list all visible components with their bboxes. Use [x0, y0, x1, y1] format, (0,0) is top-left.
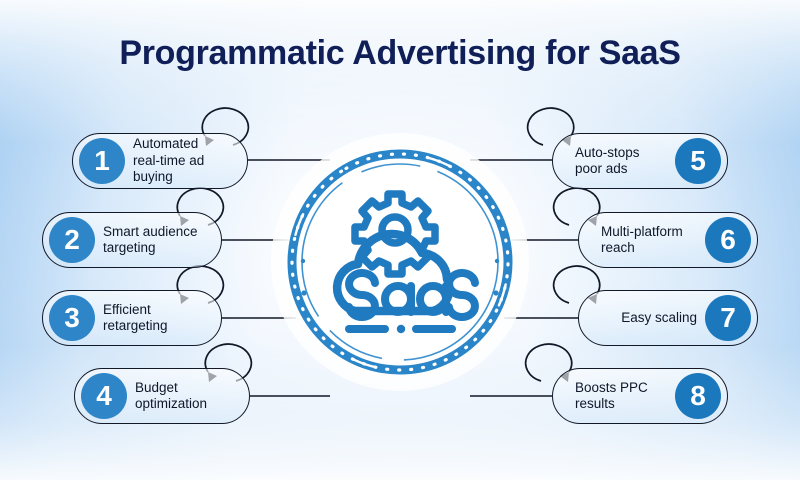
item-label: Smart audience targeting [95, 224, 207, 257]
item-label: Automated real-time ad buying [125, 136, 233, 185]
infographic-canvas: Programmatic Advertising for SaaS [0, 0, 800, 480]
saas-logo-icon [281, 143, 519, 381]
item-badge: 7 [705, 295, 751, 341]
item-label: Budget optimization [127, 380, 235, 413]
item-badge: 3 [49, 295, 95, 341]
item-badge: 6 [705, 217, 751, 263]
list-item[interactable]: Easy scaling 7 [578, 290, 758, 346]
list-item[interactable]: 4 Budget optimization [74, 368, 250, 424]
list-item[interactable]: 3 Efficient retargeting [42, 290, 222, 346]
item-label: Easy scaling [613, 310, 705, 326]
item-label: Multi-platform reach [593, 224, 705, 257]
item-label: Efficient retargeting [95, 302, 207, 335]
item-badge: 8 [675, 373, 721, 419]
list-item[interactable]: 1 Automated real-time ad buying [72, 133, 248, 189]
item-badge: 5 [675, 138, 721, 184]
item-badge: 1 [79, 138, 125, 184]
center-emblem: SaaS [281, 143, 519, 381]
item-badge: 2 [49, 217, 95, 263]
item-label: Auto-stops poor ads [567, 145, 675, 178]
list-item[interactable]: 2 Smart audience targeting [42, 212, 222, 268]
item-label: Boosts PPC results [567, 380, 675, 413]
list-item[interactable]: Boosts PPC results 8 [552, 368, 728, 424]
list-item[interactable]: Auto-stops poor ads 5 [552, 133, 728, 189]
list-item[interactable]: Multi-platform reach 6 [578, 212, 758, 268]
item-badge: 4 [81, 373, 127, 419]
